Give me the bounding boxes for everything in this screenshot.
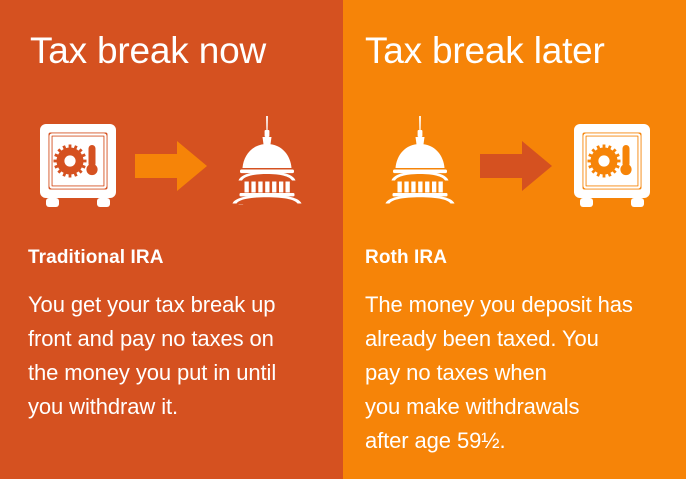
- icon-row-roth: [343, 112, 686, 220]
- panel-title-tax-break-now: Tax break now: [30, 28, 266, 74]
- body-copy-roth: The money you deposit hasalready been ta…: [365, 288, 675, 458]
- panel-traditional-ira: Tax break now: [0, 0, 343, 479]
- body-copy-line: after age 59½.: [365, 424, 675, 458]
- body-copy-line: you withdraw it.: [28, 390, 328, 424]
- panel-roth-ira: Tax break later: [343, 0, 686, 479]
- right-arrow-icon: [473, 112, 559, 220]
- icon-row-traditional: [0, 112, 343, 220]
- body-copy-line: The money you deposit has: [365, 288, 675, 322]
- body-copy-line: You get your tax break up: [28, 288, 328, 322]
- ira-comparison-infographic: Tax break now: [0, 0, 686, 479]
- body-copy-line: you make withdrawals: [365, 390, 675, 424]
- body-copy-line: the money you put in until: [28, 356, 328, 390]
- capitol-building-icon: [365, 112, 475, 220]
- panel-title-tax-break-later: Tax break later: [365, 28, 605, 74]
- right-arrow-icon: [128, 112, 214, 220]
- capitol-building-icon: [212, 112, 322, 220]
- safe-icon: [557, 112, 667, 220]
- subhead-traditional-ira: Traditional IRA: [28, 246, 328, 270]
- body-copy-line: already been taxed. You: [365, 322, 675, 356]
- text-block-traditional: Traditional IRA You get your tax break u…: [28, 246, 328, 424]
- body-copy-line: front and pay no taxes on: [28, 322, 328, 356]
- subhead-roth-ira: Roth IRA: [365, 246, 675, 270]
- safe-icon: [24, 112, 132, 220]
- body-copy-line: pay no taxes when: [365, 356, 675, 390]
- body-copy-traditional: You get your tax break upfront and pay n…: [28, 288, 328, 424]
- text-block-roth: Roth IRA The money you deposit hasalread…: [365, 246, 675, 458]
